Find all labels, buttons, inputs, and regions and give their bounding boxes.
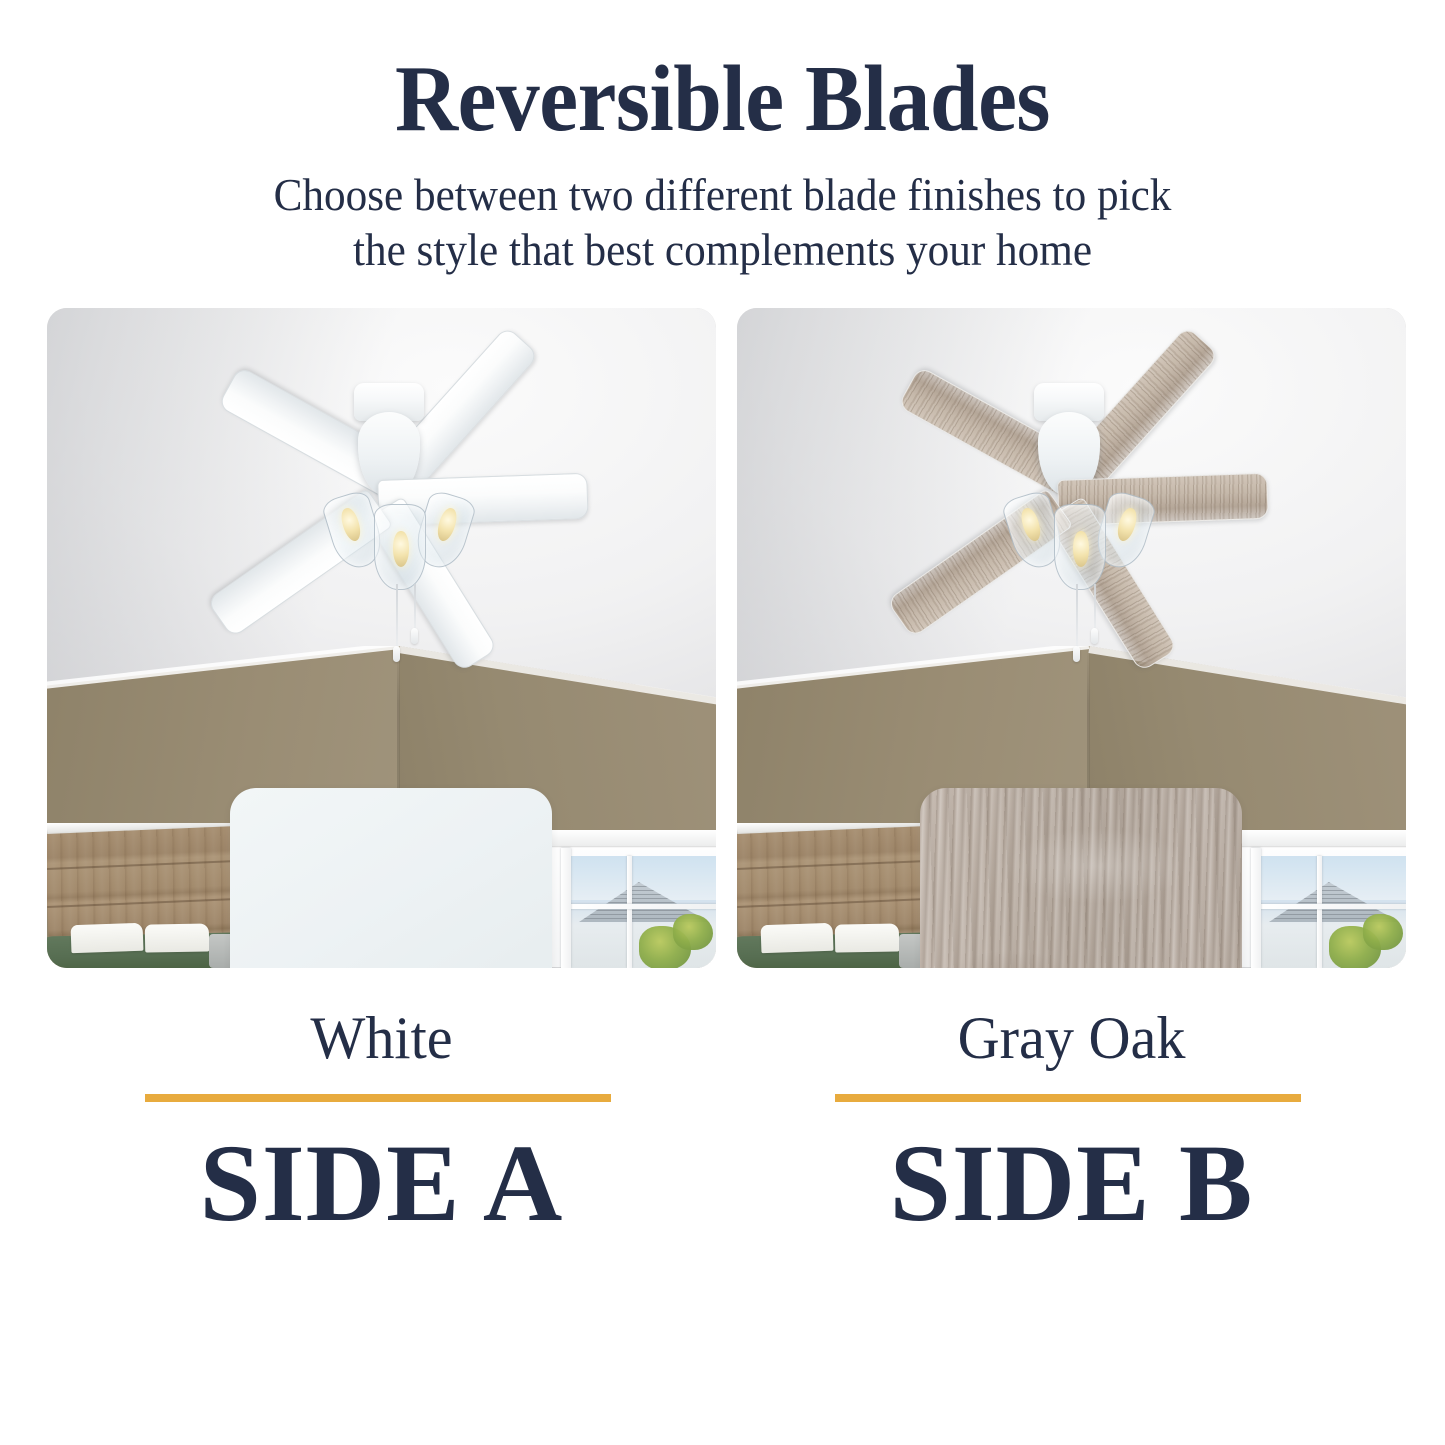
pull-chain[interactable] <box>1076 584 1078 648</box>
light-bulb <box>1114 506 1139 543</box>
finish-name-side-a: White <box>57 1008 706 1068</box>
light-bulb <box>393 531 409 567</box>
finish-name-side-b: Gray Oak <box>747 1008 1396 1068</box>
header: Reversible Blades Choose between two dif… <box>0 52 1445 278</box>
light-shade <box>374 504 426 590</box>
room-photo-side-b <box>737 308 1406 968</box>
pillow <box>835 923 899 952</box>
pull-chain[interactable] <box>396 584 398 648</box>
page-title: Reversible Blades <box>51 52 1395 146</box>
window-glass <box>569 856 716 968</box>
page-subtitle: Choose between two different blade finis… <box>29 168 1416 278</box>
light-bulb <box>1018 506 1043 543</box>
light-bulb <box>338 506 363 543</box>
pull-chain-knob[interactable] <box>1091 628 1098 644</box>
side-label-b: SIDE B <box>737 1128 1406 1238</box>
room-photo-side-a <box>47 308 716 968</box>
pillow <box>145 923 209 952</box>
pillow <box>71 923 144 953</box>
infographic-page: Reversible Blades Choose between two dif… <box>0 0 1445 1445</box>
subtitle-line-2: the style that best complements your hom… <box>29 223 1416 278</box>
light-bulb <box>434 506 459 543</box>
panel-side-b: Gray Oak SIDE B <box>737 308 1406 1388</box>
panel-side-a: White SIDE A <box>47 308 716 1388</box>
side-label-a: SIDE A <box>47 1128 716 1238</box>
pull-chain[interactable] <box>1094 584 1096 630</box>
pull-chain-knob[interactable] <box>411 628 418 644</box>
pull-chain-knob[interactable] <box>1073 646 1080 662</box>
finish-swatch-gray-oak <box>920 788 1242 968</box>
light-shade <box>1054 504 1106 590</box>
pillow <box>761 923 834 953</box>
pull-chain-knob[interactable] <box>393 646 400 662</box>
pull-chain[interactable] <box>414 584 416 630</box>
window-glass <box>1259 856 1406 968</box>
finish-swatch-white <box>230 788 552 968</box>
gold-divider <box>835 1094 1301 1102</box>
comparison-columns: White SIDE A <box>47 308 1398 1388</box>
subtitle-line-1: Choose between two different blade finis… <box>29 168 1416 223</box>
gold-divider <box>145 1094 611 1102</box>
light-bulb <box>1073 531 1089 567</box>
